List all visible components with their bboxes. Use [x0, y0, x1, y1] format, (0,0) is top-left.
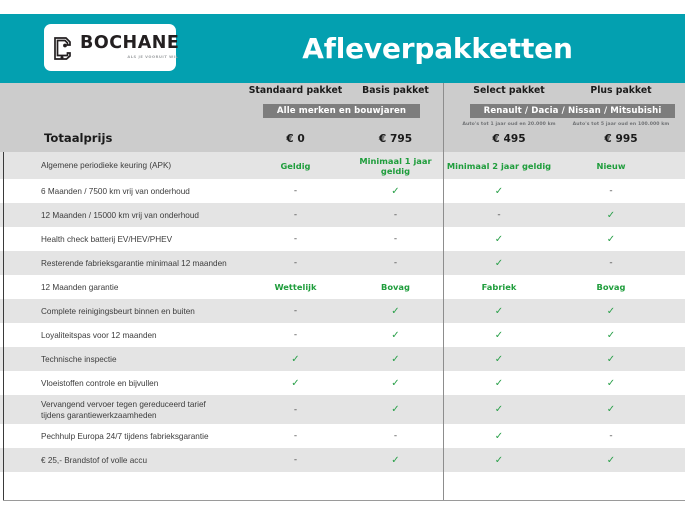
- cell-plus: -: [555, 431, 667, 441]
- cell-standaard: -: [243, 258, 348, 268]
- price-select: € 495: [453, 133, 565, 145]
- badge-alle-merken: Alle merken en bouwjaren: [263, 104, 420, 118]
- feature-label: Resterende fabrieksgarantie minimaal 12 …: [0, 258, 243, 269]
- table-footer-spacer: [0, 478, 685, 500]
- cell-select: Minimaal 2 jaar geldig: [443, 161, 555, 171]
- cell-basis: ✓: [348, 455, 443, 466]
- feature-label: Pechhulp Europa 24/7 tijdens fabrieksgar…: [0, 431, 243, 442]
- cell-plus: ✓: [555, 234, 667, 245]
- column-name-basis: Basis pakket: [348, 85, 443, 96]
- table-row: Resterende fabrieksgarantie minimaal 12 …: [0, 251, 685, 275]
- table-row: Health check batterij EV/HEV/PHEV--✓✓: [0, 227, 685, 251]
- badge-merken-renault-dacia-nissan-mitsubishi: Renault / Dacia / Nissan / Mitsubishi: [470, 104, 675, 118]
- cell-basis: -: [348, 210, 443, 220]
- table-row: Technische inspectie✓✓✓✓: [0, 347, 685, 371]
- feature-label: 12 Maanden garantie: [0, 282, 243, 293]
- cell-plus: ✓: [555, 354, 667, 365]
- cell-plus: ✓: [555, 210, 667, 221]
- feature-table: Algemene periodieke keuring (APK)GeldigM…: [0, 152, 685, 472]
- cell-standaard: -: [243, 234, 348, 244]
- column-name-select: Select pakket: [453, 85, 565, 96]
- price-plus: € 995: [565, 133, 677, 145]
- cell-standaard: ✓: [243, 378, 348, 389]
- table-bottom-rule: [3, 500, 685, 501]
- cell-select: ✓: [443, 455, 555, 466]
- cell-select: ✓: [443, 354, 555, 365]
- total-price-row: Totaalprijs € 0 € 795 € 495 € 995: [0, 129, 685, 152]
- table-row: € 25,- Brandstof of volle accu-✓✓✓: [0, 448, 685, 472]
- column-group-divider: [443, 83, 444, 500]
- feature-label: Technische inspectie: [0, 354, 243, 365]
- cell-select: ✓: [443, 378, 555, 389]
- cell-select: ✓: [443, 186, 555, 197]
- cell-plus: Nieuw: [555, 161, 667, 171]
- feature-label: Loyaliteitspas voor 12 maanden: [0, 330, 243, 341]
- table-row: Algemene periodieke keuring (APK)GeldigM…: [0, 152, 685, 179]
- feature-label: 6 Maanden / 7500 km vrij van onderhoud: [0, 186, 243, 197]
- page-title: Afleverpakketten: [190, 14, 685, 83]
- column-name-standaard: Standaard pakket: [243, 85, 348, 96]
- table-row: 12 Maanden garantieWettelijkBovagFabriek…: [0, 275, 685, 299]
- table-row: Vloeistoffen controle en bijvullen✓✓✓✓: [0, 371, 685, 395]
- feature-label: Algemene periodieke keuring (APK): [0, 160, 243, 171]
- price-basis: € 795: [348, 133, 443, 145]
- feature-label: 12 Maanden / 15000 km vrij van onderhoud: [0, 210, 243, 221]
- cell-basis: Minimaal 1 jaar geldig: [348, 156, 443, 176]
- table-row: Vervangend vervoer tegen gereduceerd tar…: [0, 395, 685, 424]
- cell-select: ✓: [443, 234, 555, 245]
- cell-basis: ✓: [348, 186, 443, 197]
- cell-basis: Bovag: [348, 282, 443, 292]
- bochane-logo-text: BOCHANE ALS JE VOORUIT WIL: [80, 35, 179, 59]
- cell-standaard: -: [243, 405, 348, 415]
- subnote-plus: Auto's tot 5 jaar oud en 100.000 km: [565, 122, 677, 127]
- subnote-select: Auto's tot 1 jaar oud en 20.000 km: [453, 122, 565, 127]
- cell-basis: ✓: [348, 404, 443, 415]
- package-comparison-page: BOCHANE ALS JE VOORUIT WIL Afleverpakket…: [0, 0, 685, 514]
- cell-select: Fabriek: [443, 282, 555, 292]
- column-name-row: Standaard pakket Basis pakket Select pak…: [0, 85, 685, 101]
- cell-select: ✓: [443, 431, 555, 442]
- cell-standaard: Geldig: [243, 161, 348, 171]
- feature-label: Vloeistoffen controle en bijvullen: [0, 378, 243, 389]
- cell-plus: -: [555, 186, 667, 196]
- cell-plus: Bovag: [555, 282, 667, 292]
- cell-standaard: -: [243, 186, 348, 196]
- feature-label: Complete reinigingsbeurt binnen en buite…: [0, 306, 243, 317]
- cell-basis: ✓: [348, 306, 443, 317]
- cell-standaard: ✓: [243, 354, 348, 365]
- cell-plus: -: [555, 258, 667, 268]
- cell-select: ✓: [443, 404, 555, 415]
- cell-select: ✓: [443, 258, 555, 269]
- table-row: Pechhulp Europa 24/7 tijdens fabrieksgar…: [0, 424, 685, 448]
- cell-standaard: Wettelijk: [243, 282, 348, 292]
- table-row: Complete reinigingsbeurt binnen en buite…: [0, 299, 685, 323]
- table-left-rule: [3, 152, 4, 500]
- cell-standaard: -: [243, 330, 348, 340]
- cell-basis: ✓: [348, 354, 443, 365]
- table-row: 12 Maanden / 15000 km vrij van onderhoud…: [0, 203, 685, 227]
- cell-basis: -: [348, 234, 443, 244]
- bochane-logo: BOCHANE ALS JE VOORUIT WIL: [44, 24, 176, 71]
- feature-label: € 25,- Brandstof of volle accu: [0, 455, 243, 466]
- feature-label: Health check batterij EV/HEV/PHEV: [0, 234, 243, 245]
- cell-standaard: -: [243, 210, 348, 220]
- bochane-tagline: ALS JE VOORUIT WIL: [127, 56, 179, 60]
- cell-select: -: [443, 210, 555, 220]
- bochane-mark-icon: [53, 35, 75, 61]
- feature-label: Vervangend vervoer tegen gereduceerd tar…: [0, 399, 243, 421]
- cell-standaard: -: [243, 431, 348, 441]
- table-row: Loyaliteitspas voor 12 maanden-✓✓✓: [0, 323, 685, 347]
- cell-select: ✓: [443, 330, 555, 341]
- price-standaard: € 0: [243, 133, 348, 145]
- cell-basis: -: [348, 258, 443, 268]
- cell-select: ✓: [443, 306, 555, 317]
- cell-standaard: -: [243, 455, 348, 465]
- total-price-label: Totaalprijs: [44, 131, 112, 145]
- cell-basis: -: [348, 431, 443, 441]
- cell-plus: ✓: [555, 330, 667, 341]
- cell-plus: ✓: [555, 455, 667, 466]
- bochane-wordmark: BOCHANE: [80, 35, 179, 53]
- cell-plus: ✓: [555, 404, 667, 415]
- table-row: 6 Maanden / 7500 km vrij van onderhoud-✓…: [0, 179, 685, 203]
- cell-plus: ✓: [555, 306, 667, 317]
- cell-plus: ✓: [555, 378, 667, 389]
- cell-basis: ✓: [348, 330, 443, 341]
- cell-standaard: -: [243, 306, 348, 316]
- column-name-plus: Plus pakket: [565, 85, 677, 96]
- page-header-band: BOCHANE ALS JE VOORUIT WIL Afleverpakket…: [0, 14, 685, 83]
- cell-basis: ✓: [348, 378, 443, 389]
